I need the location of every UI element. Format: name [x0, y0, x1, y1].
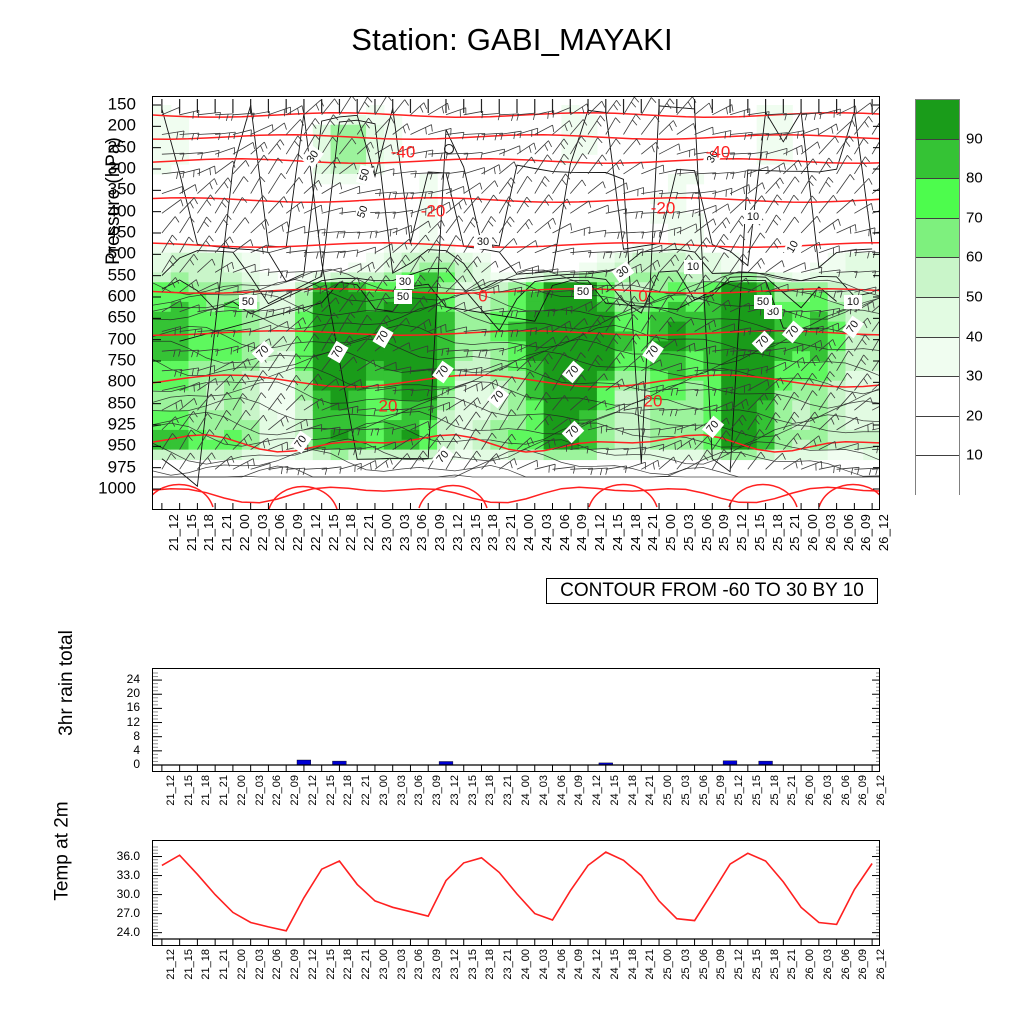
rain-x-tick-label: 22_18 — [342, 775, 354, 806]
rain-bar-chart — [153, 669, 880, 772]
temp-x-tick-label: 24_21 — [644, 949, 656, 980]
temp-axis-ticks — [153, 847, 880, 946]
contour-label: 30 — [474, 235, 492, 249]
contour-label: 10 — [744, 210, 762, 224]
colorbar-labels: 908070605040302010 — [966, 99, 1022, 495]
temp-x-tick-label: 22_09 — [289, 949, 301, 980]
xsec-y-tick-label: 975 — [108, 458, 136, 475]
xsec-x-tick-label: 24_15 — [610, 514, 625, 551]
temp-x-tick-label: 22_12 — [307, 949, 319, 980]
svg-text:10: 10 — [847, 296, 859, 308]
temp-x-tick-label: 23_15 — [467, 949, 479, 980]
contour-label: 50 — [353, 201, 372, 223]
temp-y-tick-label: 33.0 — [117, 868, 140, 882]
xsec-x-tick-label: 25_06 — [699, 514, 714, 551]
temp-frame — [152, 840, 880, 946]
xsec-y-tick-label: 400 — [108, 202, 136, 219]
rain-bars — [297, 760, 773, 765]
rain-x-axis-labels: 21_1221_1521_1821_2122_0022_0322_0622_09… — [152, 774, 880, 832]
svg-text:50: 50 — [242, 296, 254, 308]
rain-y-tick-label: 4 — [133, 743, 140, 757]
temp-x-tick-label: 23_06 — [413, 949, 425, 980]
svg-text:10: 10 — [687, 261, 699, 273]
rain-x-tick-label: 23_09 — [431, 775, 443, 806]
rain-y-tick-label: 24 — [127, 672, 140, 686]
colorbar-cell — [916, 179, 959, 219]
rain-y-tick-label: 12 — [127, 715, 140, 729]
xsec-x-tick-label: 24_18 — [628, 514, 643, 551]
xsec-y-axis-labels: 1502002503003504004505005506006507007508… — [78, 96, 144, 510]
contour-caption: CONTOUR FROM -60 TO 30 BY 10 — [546, 578, 878, 604]
temp-x-tick-label: 25_00 — [662, 949, 674, 980]
rain-axis-ticks — [153, 673, 880, 772]
xsec-x-tick-label: 26_00 — [805, 514, 820, 551]
rain-x-tick-label: 23_21 — [502, 775, 514, 806]
temp-panel-title: Temp at 2m — [52, 769, 74, 934]
contour-label: 30 — [396, 275, 414, 289]
xsec-y-tick-label: 750 — [108, 352, 136, 369]
temp-y-axis-labels: 24.027.030.033.036.0 — [92, 840, 146, 946]
colorbar-cell — [916, 258, 959, 298]
colorbar-tick-label: 70 — [966, 209, 983, 226]
rain-x-tick-label: 23_12 — [449, 775, 461, 806]
xsec-y-tick-label: 200 — [108, 117, 136, 134]
svg-text:-20: -20 — [651, 198, 676, 217]
temp-x-tick-label: 24_12 — [591, 949, 603, 980]
xsec-x-tick-label: 23_09 — [432, 514, 447, 551]
xsec-x-tick-label: 25_03 — [681, 514, 696, 551]
colorbar-cell — [916, 100, 959, 140]
rain-x-tick-label: 25_09 — [715, 775, 727, 806]
xsec-x-tick-label: 22_06 — [272, 514, 287, 551]
xsec-x-tick-label: 26_09 — [858, 514, 873, 551]
contour-label: -20 — [421, 201, 446, 220]
colorbar-tick-label: 10 — [966, 447, 983, 464]
xsec-x-tick-label: 23_12 — [450, 514, 465, 551]
temp-y-tick-label: 27.0 — [117, 906, 140, 920]
xsec-x-tick-label: 22_15 — [326, 514, 341, 551]
xsec-x-tick-label: 25_00 — [663, 514, 678, 551]
temp-x-tick-label: 21_15 — [183, 949, 195, 980]
rain-x-tick-label: 25_00 — [662, 775, 674, 806]
rain-x-tick-label: 24_21 — [644, 775, 656, 806]
xsec-y-tick-label: 450 — [108, 224, 136, 241]
rain-x-tick-label: 23_03 — [396, 775, 408, 806]
rain-x-tick-label: 25_15 — [751, 775, 763, 806]
xsec-y-tick-label: 1000 — [98, 480, 136, 497]
rain-y-tick-label: 0 — [133, 757, 140, 771]
temp-panel — [152, 840, 880, 946]
temp-x-tick-label: 25_06 — [698, 949, 710, 980]
temp-x-tick-label: 23_00 — [378, 949, 390, 980]
xsec-x-tick-label: 25_12 — [734, 514, 749, 551]
svg-text:50: 50 — [757, 296, 769, 308]
rain-x-tick-label: 22_21 — [360, 775, 372, 806]
colorbar-cell — [916, 338, 959, 378]
temp-x-tick-label: 25_09 — [715, 949, 727, 980]
colorbar-tick-label: 60 — [966, 249, 983, 266]
xsec-x-tick-label: 21_21 — [219, 514, 234, 551]
xsec-x-tick-label: 25_09 — [716, 514, 731, 551]
rain-panel — [152, 668, 880, 772]
temp-x-tick-label: 22_18 — [342, 949, 354, 980]
xsec-x-tick-label: 24_06 — [557, 514, 572, 551]
rain-x-tick-label: 23_00 — [378, 775, 390, 806]
xsec-x-tick-label: 21_15 — [184, 514, 199, 551]
rain-x-tick-label: 22_09 — [289, 775, 301, 806]
xsec-x-tick-label: 22_12 — [308, 514, 323, 551]
rain-x-tick-label: 21_21 — [218, 775, 230, 806]
rain-x-tick-label: 25_06 — [698, 775, 710, 806]
rain-x-tick-label: 25_18 — [769, 775, 781, 806]
svg-text:0: 0 — [638, 286, 647, 305]
colorbar-cell — [916, 417, 959, 457]
rain-x-tick-label: 21_12 — [165, 775, 177, 806]
svg-text:-20: -20 — [421, 201, 446, 220]
temp-x-tick-label: 24_03 — [538, 949, 550, 980]
rain-x-tick-label: 22_06 — [271, 775, 283, 806]
colorbar-tick-label: 30 — [966, 368, 983, 385]
rain-y-axis-labels: 04812162024 — [100, 668, 146, 772]
contour-label: 10 — [684, 260, 702, 274]
temp-x-tick-label: 23_21 — [502, 949, 514, 980]
temp-x-tick-label: 23_12 — [449, 949, 461, 980]
xsec-y-tick-label: 850 — [108, 394, 136, 411]
rain-x-tick-label: 25_03 — [680, 775, 692, 806]
temp-x-tick-label: 22_00 — [236, 949, 248, 980]
temp-y-tick-label: 36.0 — [117, 849, 140, 863]
temp-x-tick-label: 25_18 — [769, 949, 781, 980]
contour-label: -40 — [391, 142, 416, 161]
xsec-y-tick-label: 250 — [108, 138, 136, 155]
temp-x-tick-label: 24_06 — [556, 949, 568, 980]
xsec-x-tick-label: 23_21 — [503, 514, 518, 551]
temp-x-tick-label: 23_03 — [396, 949, 408, 980]
rain-x-tick-label: 21_15 — [183, 775, 195, 806]
temp-y-tick-label: 30.0 — [117, 887, 140, 901]
rain-x-tick-label: 24_12 — [591, 775, 603, 806]
temp-x-tick-label: 22_21 — [360, 949, 372, 980]
colorbar-cell — [916, 219, 959, 259]
xsec-x-tick-label: 25_18 — [770, 514, 785, 551]
temp-x-tick-label: 24_18 — [627, 949, 639, 980]
page-title: Station: GABI_MAYAKI — [0, 22, 1024, 58]
xsec-x-tick-label: 22_21 — [361, 514, 376, 551]
xsec-y-tick-label: 700 — [108, 330, 136, 347]
temp-x-tick-label: 21_18 — [200, 949, 212, 980]
rain-x-tick-label: 26_12 — [875, 775, 887, 806]
temp-line — [162, 852, 872, 931]
temp-x-tick-label: 23_09 — [431, 949, 443, 980]
contour-label: 50 — [239, 295, 257, 309]
xsec-x-tick-label: 25_15 — [752, 514, 767, 551]
svg-text:30: 30 — [477, 236, 489, 248]
svg-text:20: 20 — [379, 396, 398, 415]
rain-x-tick-label: 21_18 — [200, 775, 212, 806]
cross-section-plot: 3050305030101030301030105050503050307070… — [153, 97, 880, 510]
rain-y-tick-label: 8 — [133, 729, 140, 743]
temp-x-tick-label: 25_03 — [680, 949, 692, 980]
temp-x-tick-label: 26_09 — [857, 949, 869, 980]
xsec-y-tick-label: 150 — [108, 96, 136, 113]
rain-x-tick-label: 26_00 — [804, 775, 816, 806]
rain-frame — [152, 668, 880, 772]
svg-text:-40: -40 — [706, 142, 731, 161]
xsec-x-axis-labels: 21_1221_1521_1821_2122_0022_0322_0622_09… — [152, 512, 880, 584]
temp-x-tick-label: 25_15 — [751, 949, 763, 980]
contour-label: 0 — [478, 286, 487, 305]
rain-x-tick-label: 24_06 — [556, 775, 568, 806]
rain-x-tick-label: 22_00 — [236, 775, 248, 806]
temp-x-tick-label: 22_15 — [325, 949, 337, 980]
rain-x-tick-label: 23_18 — [484, 775, 496, 806]
temp-x-tick-label: 26_03 — [822, 949, 834, 980]
colorbar-cell — [916, 456, 959, 496]
rain-x-tick-label: 24_15 — [609, 775, 621, 806]
svg-text:-40: -40 — [391, 142, 416, 161]
xsec-y-tick-label: 550 — [108, 266, 136, 283]
temp-x-tick-label: 25_21 — [786, 949, 798, 980]
contour-label: 50 — [754, 295, 772, 309]
rain-x-tick-label: 22_15 — [325, 775, 337, 806]
xsec-x-tick-label: 26_03 — [823, 514, 838, 551]
xsec-x-tick-label: 23_03 — [397, 514, 412, 551]
rain-y-tick-label: 16 — [127, 700, 140, 714]
rain-x-tick-label: 25_21 — [786, 775, 798, 806]
rain-x-tick-label: 22_03 — [254, 775, 266, 806]
temp-y-tick-label: 24.0 — [117, 925, 140, 939]
rain-x-tick-label: 26_03 — [822, 775, 834, 806]
xsec-x-tick-label: 25_21 — [787, 514, 802, 551]
xsec-x-tick-label: 23_06 — [414, 514, 429, 551]
temp-x-axis-labels: 21_1221_1521_1821_2122_0022_0322_0622_09… — [152, 948, 880, 1006]
xsec-x-tick-label: 26_12 — [876, 514, 891, 551]
xsec-y-tick-label: 925 — [108, 416, 136, 433]
xsec-x-tick-label: 23_15 — [468, 514, 483, 551]
rain-y-tick-label: 20 — [127, 686, 140, 700]
xsec-x-tick-label: 21_18 — [201, 514, 216, 551]
rain-x-tick-label: 23_06 — [413, 775, 425, 806]
svg-text:50: 50 — [577, 286, 589, 298]
xsec-x-tick-label: 24_00 — [521, 514, 536, 551]
temp-x-tick-label: 24_09 — [573, 949, 585, 980]
svg-text:0: 0 — [478, 286, 487, 305]
xsec-x-tick-label: 23_00 — [379, 514, 394, 551]
colorbar-cell — [916, 377, 959, 417]
colorbar-cell — [916, 140, 959, 180]
temp-x-tick-label: 24_00 — [520, 949, 532, 980]
xsec-y-tick-label: 300 — [108, 160, 136, 177]
xsec-x-tick-label: 22_09 — [290, 514, 305, 551]
plot-page: Station: GABI_MAYAKI Pressure (hPa) 1502… — [0, 0, 1024, 1024]
xsec-x-tick-label: 24_09 — [574, 514, 589, 551]
colorbar-tick-label: 80 — [966, 170, 983, 187]
colorbar-tick-label: 50 — [966, 289, 983, 306]
contour-label: -20 — [651, 198, 676, 217]
xsec-y-tick-label: 600 — [108, 288, 136, 305]
contour-label: 50 — [394, 290, 412, 304]
xsec-x-tick-label: 22_18 — [343, 514, 358, 551]
contour-label: 20 — [644, 391, 663, 410]
rain-x-tick-label: 24_00 — [520, 775, 532, 806]
contour-label: 20 — [379, 396, 398, 415]
rain-x-tick-label: 24_03 — [538, 775, 550, 806]
rain-x-tick-label: 22_12 — [307, 775, 319, 806]
colorbar-cell — [916, 298, 959, 338]
svg-text:50: 50 — [397, 291, 409, 303]
contour-label: 50 — [574, 285, 592, 299]
xsec-y-tick-label: 350 — [108, 181, 136, 198]
temperature-line-chart — [153, 841, 880, 946]
temp-x-tick-label: 22_06 — [271, 949, 283, 980]
rain-x-tick-label: 24_09 — [573, 775, 585, 806]
contour-label: -40 — [706, 142, 731, 161]
colorbar-tick-label: 40 — [966, 328, 983, 345]
rain-x-tick-label: 23_15 — [467, 775, 479, 806]
rain-panel-title: 3hr rain total — [56, 598, 78, 768]
colorbar-tick-label: 20 — [966, 407, 983, 424]
xsec-x-tick-label: 22_00 — [237, 514, 252, 551]
xsec-x-tick-label: 23_18 — [485, 514, 500, 551]
cross-section-panel: 3050305030101030301030105050503050307070… — [152, 96, 880, 510]
temp-x-tick-label: 23_18 — [484, 949, 496, 980]
xsec-y-tick-label: 650 — [108, 309, 136, 326]
temp-x-tick-label: 26_00 — [804, 949, 816, 980]
contour-label: 10 — [782, 236, 803, 259]
temp-x-tick-label: 21_21 — [218, 949, 230, 980]
svg-text:10: 10 — [747, 211, 759, 223]
xsec-x-tick-label: 22_03 — [255, 514, 270, 551]
xsec-y-tick-label: 950 — [108, 437, 136, 454]
xsec-x-tick-label: 24_21 — [645, 514, 660, 551]
rain-x-tick-label: 25_12 — [733, 775, 745, 806]
xsec-x-tick-label: 26_06 — [841, 514, 856, 551]
contour-label: 0 — [638, 286, 647, 305]
temp-x-tick-label: 22_03 — [254, 949, 266, 980]
temp-x-tick-label: 24_15 — [609, 949, 621, 980]
temp-x-tick-label: 26_06 — [840, 949, 852, 980]
rain-x-tick-label: 26_06 — [840, 775, 852, 806]
xsec-y-tick-label: 800 — [108, 373, 136, 390]
contour-label: 10 — [844, 295, 862, 309]
cross-section-frame: 3050305030101030301030105050503050307070… — [152, 96, 880, 510]
colorbar — [915, 99, 960, 495]
rain-x-tick-label: 26_09 — [857, 775, 869, 806]
xsec-y-tick-label: 500 — [108, 245, 136, 262]
svg-text:30: 30 — [399, 276, 411, 288]
temp-x-tick-label: 26_12 — [875, 949, 887, 980]
colorbar-tick-label: 90 — [966, 130, 983, 147]
xsec-x-tick-label: 21_12 — [166, 514, 181, 551]
temp-x-tick-label: 21_12 — [165, 949, 177, 980]
xsec-x-tick-label: 24_12 — [592, 514, 607, 551]
rain-x-tick-label: 24_18 — [627, 775, 639, 806]
svg-text:20: 20 — [644, 391, 663, 410]
temp-x-tick-label: 25_12 — [733, 949, 745, 980]
xsec-x-tick-label: 24_03 — [539, 514, 554, 551]
